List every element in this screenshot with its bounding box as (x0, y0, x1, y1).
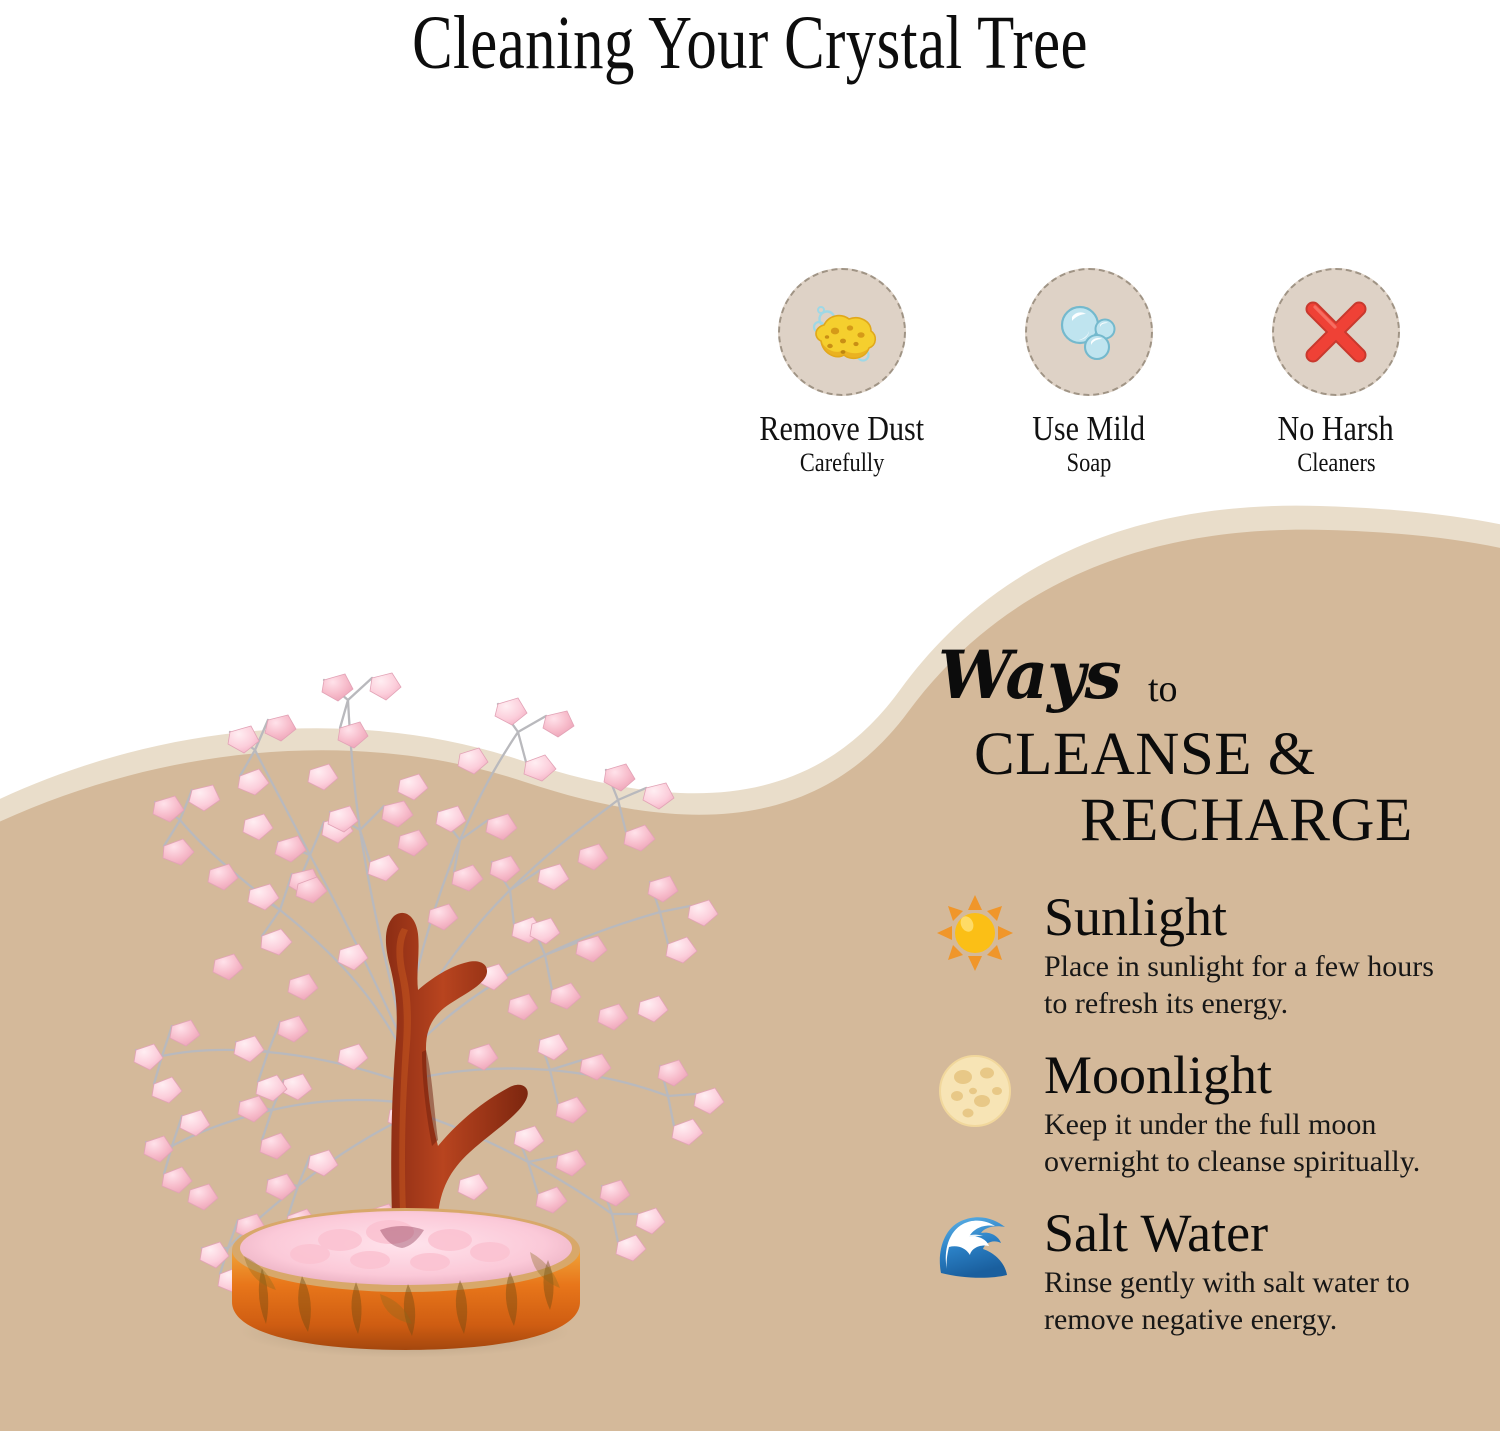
tree-trunk (386, 913, 528, 1256)
panel-heading: Ways to (930, 648, 1475, 720)
red-x-icon (1295, 291, 1377, 373)
badge-sublabel: Carefully (800, 448, 884, 478)
method-title: Sunlight (1044, 888, 1475, 946)
moon-icon (932, 1048, 1018, 1134)
cleanse-method-moonlight[interactable]: Moonlight Keep it under the full moon ov… (930, 1046, 1475, 1204)
heading-to-word: to (1148, 670, 1178, 708)
cleanse-recharge-panel: Ways to CLEANSE & RECHARGE (930, 648, 1475, 1362)
heading-script-word: Ways (938, 642, 1121, 708)
method-title: Moonlight (1044, 1046, 1475, 1104)
sun-icon (932, 890, 1018, 976)
bubbles-icon (1048, 291, 1130, 373)
cleanse-method-salt-water[interactable]: Salt Water Rinse gently with salt water … (930, 1204, 1475, 1362)
method-title: Salt Water (1044, 1204, 1475, 1262)
badge-sublabel: Soap (1067, 448, 1112, 478)
rose-quartz-crystal-tree (40, 350, 760, 1360)
care-badge-row: Remove Dust Carefully Use M (726, 268, 1452, 488)
method-description: Keep it under the full moon overnight to… (1044, 1106, 1444, 1180)
badge-label: Use Mild (1033, 410, 1146, 448)
care-badge-use-mild-soap[interactable]: Use Mild Soap (973, 268, 1205, 478)
heading-line-recharge: RECHARGE (1080, 788, 1475, 854)
care-badge-no-harsh-cleaners[interactable]: No Harsh Cleaners (1220, 268, 1452, 478)
heading-line-cleanse: CLEANSE & (974, 722, 1475, 788)
method-description: Place in sunlight for a few hours to ref… (1044, 948, 1444, 1022)
method-description: Rinse gently with salt water to remove n… (1044, 1264, 1444, 1338)
wave-icon (932, 1206, 1018, 1292)
badge-circle (778, 268, 906, 396)
tree-base (232, 1208, 580, 1350)
cleanse-method-sunlight[interactable]: Sunlight Place in sunlight for a few hou… (930, 888, 1475, 1046)
badge-circle (1272, 268, 1400, 396)
badge-circle (1025, 268, 1153, 396)
badge-sublabel: Cleaners (1297, 448, 1375, 478)
sponge-icon (801, 291, 883, 373)
care-badge-remove-dust[interactable]: Remove Dust Carefully (726, 268, 958, 478)
cleanse-methods-list: Sunlight Place in sunlight for a few hou… (930, 888, 1475, 1362)
badge-label: Remove Dust (760, 410, 925, 448)
page-title: Cleaning Your Crystal Tree (150, 0, 1350, 90)
badge-label: No Harsh (1278, 410, 1394, 448)
infographic-canvas: Cleaning Your Crystal Tree (0, 0, 1500, 1431)
